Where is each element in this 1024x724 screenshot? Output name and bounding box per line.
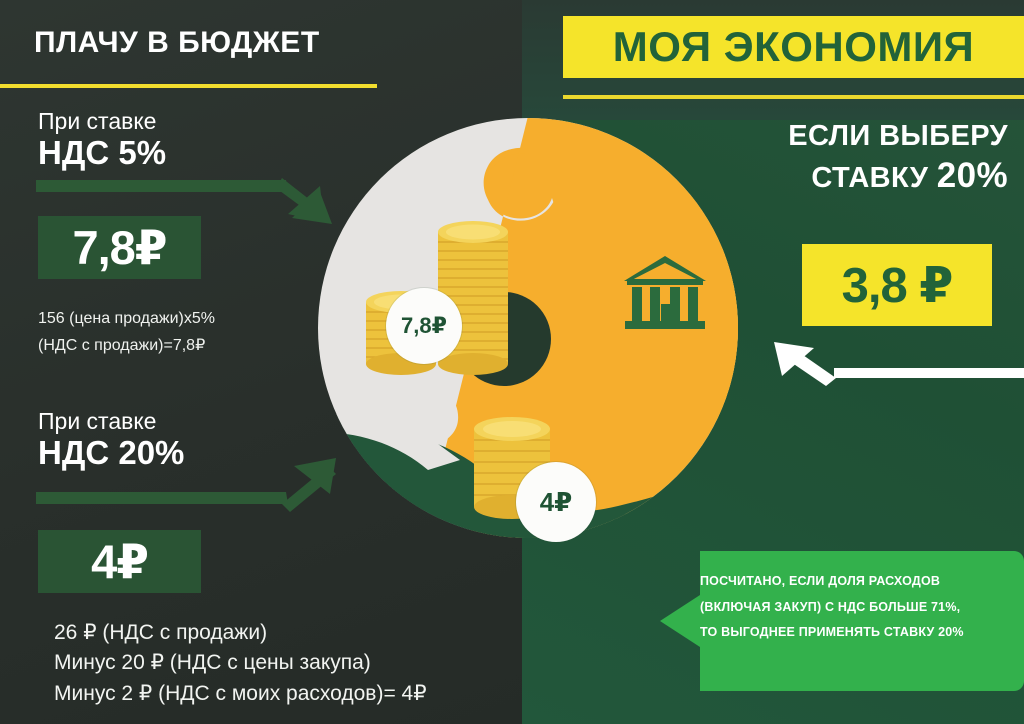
- saving-value: 3,8 ₽: [842, 257, 953, 314]
- right-banner-label: МОЯ ЭКОНОМИЯ: [613, 23, 975, 71]
- block-5-calc-line-2: (НДС с продажи)=7,8₽: [38, 332, 215, 359]
- bank-building-icon: [620, 248, 710, 338]
- right-banner-underline: [563, 95, 1024, 99]
- callout-line-1: ПОСЧИТАНО, ЕСЛИ ДОЛЯ РАСХОДОВ: [700, 569, 1020, 595]
- right-subtitle-prefix: СТАВКУ: [811, 162, 936, 194]
- block-20-label-small: При ставке: [38, 408, 184, 435]
- block-20-value: 4₽: [91, 534, 148, 590]
- right-panel-banner: МОЯ ЭКОНОМИЯ: [563, 16, 1024, 78]
- infographic-canvas: ПЛАЧУ В БЮДЖЕТ МОЯ ЭКОНОМИЯ ЕСЛИ ВЫБЕРУ …: [0, 0, 1024, 724]
- callout-text: ПОСЧИТАНО, ЕСЛИ ДОЛЯ РАСХОДОВ (ВКЛЮЧАЯ З…: [700, 569, 1020, 646]
- arrow-right-up-icon: [36, 452, 352, 514]
- block-5-calc-line-1: 156 (цена продажи)x5%: [38, 305, 215, 332]
- block-5-calculation: 156 (цена продажи)x5% (НДС с продажи)=7,…: [38, 305, 215, 359]
- arrow-left-white-icon: [756, 340, 1024, 392]
- block-5-label-small: При ставке: [38, 108, 166, 135]
- badge-tax-5: 7,8₽: [386, 288, 462, 364]
- block-20-value-box: 4₽: [38, 530, 201, 593]
- saving-value-box: 3,8 ₽: [802, 244, 992, 326]
- left-title-underline: [0, 84, 377, 88]
- block-20-calc-line-1: 26 ₽ (НДС с продажи): [54, 618, 427, 648]
- block-20-calc-line-2: Минус 20 ₽ (НДС с цены закупа): [54, 648, 427, 678]
- block-20-calc-line-3: Минус 2 ₽ (НДС с моих расходов)= 4₽: [54, 679, 427, 709]
- block-20-calculation: 26 ₽ (НДС с продажи) Минус 20 ₽ (НДС с ц…: [54, 618, 427, 709]
- callout-line-2: (ВКЛЮЧАЯ ЗАКУП) С НДС БОЛЬШЕ 71%,: [700, 595, 1020, 621]
- left-panel-title: ПЛАЧУ В БЮДЖЕТ: [34, 26, 320, 60]
- badge-tax-20-label: 4₽: [540, 487, 573, 518]
- callout-line-3: ТО ВЫГОДНЕЕ ПРИМЕНЯТЬ СТАВКУ 20%: [700, 620, 1020, 646]
- right-subtitle-rate: 20%: [937, 156, 1008, 195]
- block-5-value: 7,8₽: [72, 220, 166, 276]
- block-5-label-big: НДС 5%: [38, 135, 166, 172]
- block-5-value-box: 7,8₽: [38, 216, 201, 279]
- badge-tax-5-label: 7,8₽: [401, 313, 447, 339]
- block-5-label: При ставке НДС 5%: [38, 108, 166, 172]
- badge-tax-20: 4₽: [516, 462, 596, 542]
